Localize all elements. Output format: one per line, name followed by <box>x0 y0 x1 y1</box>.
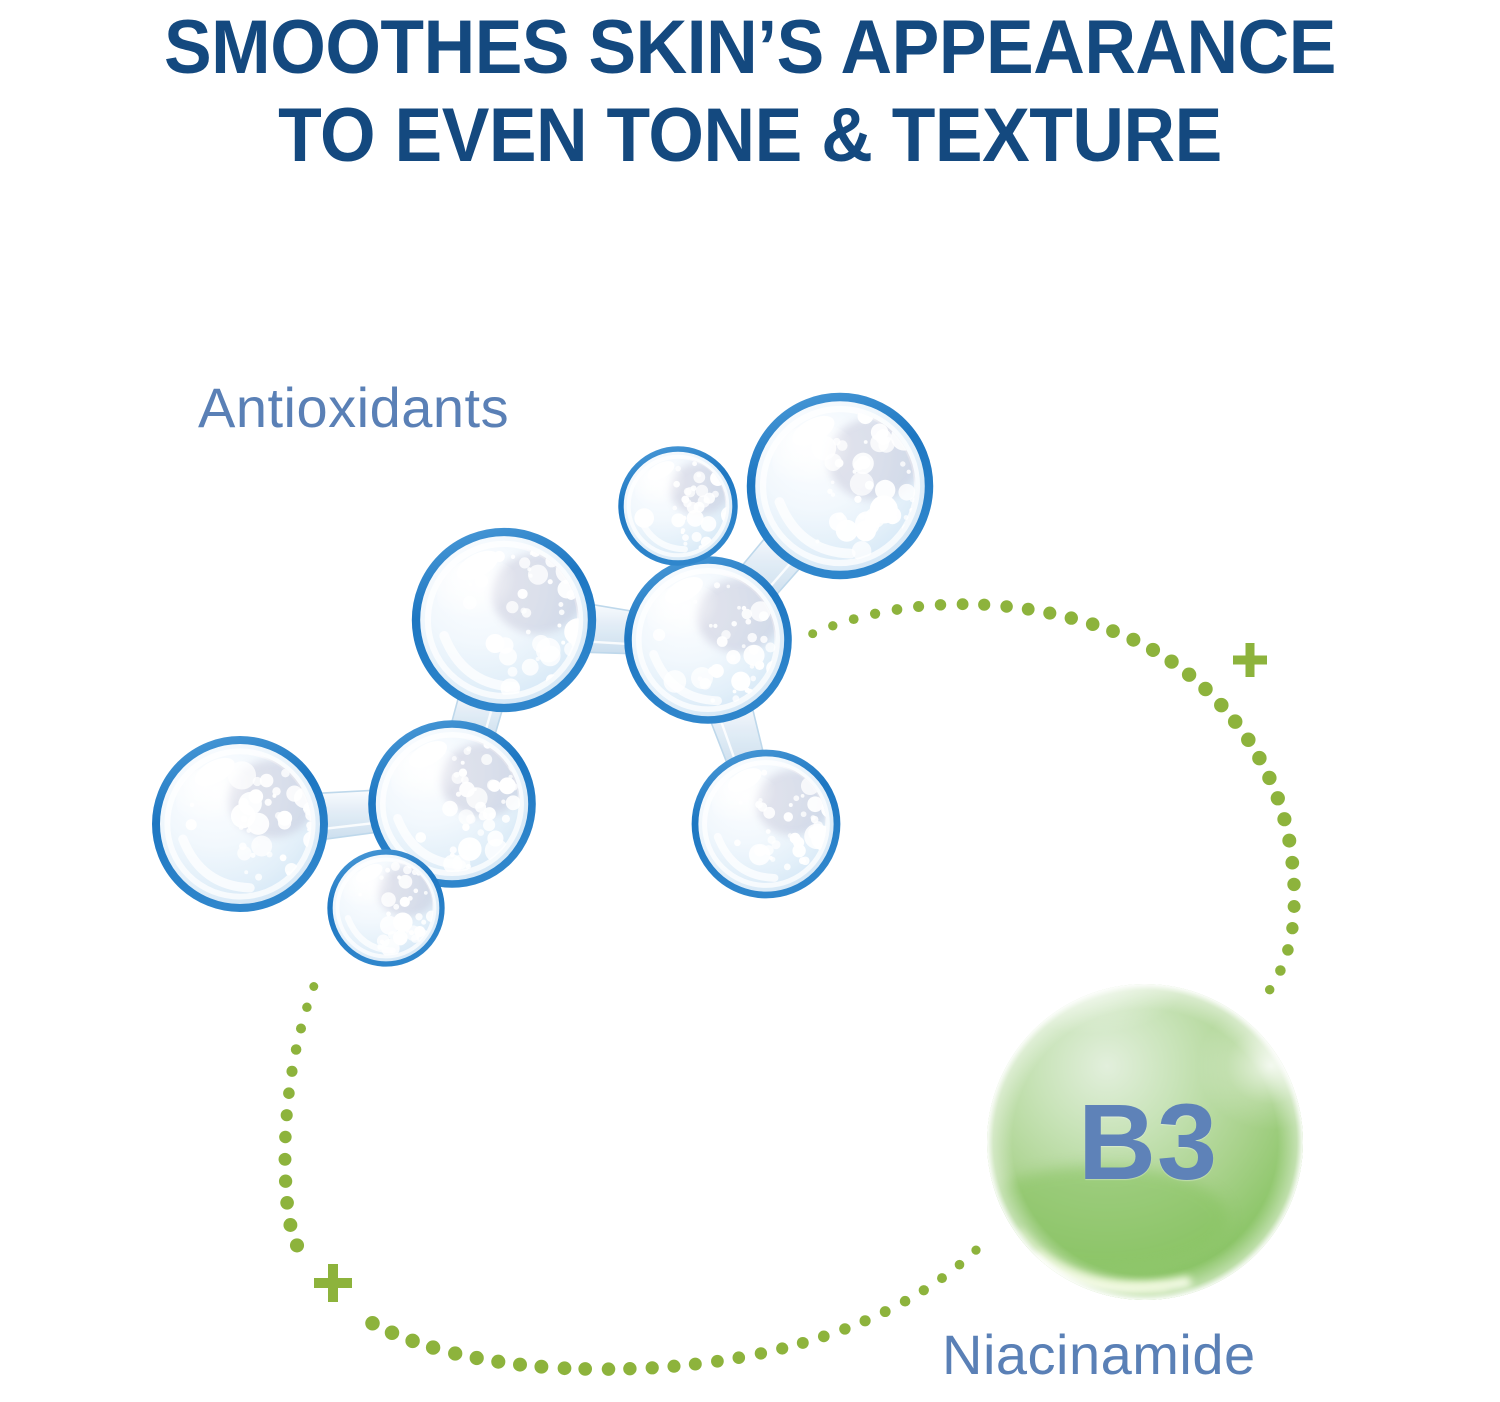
bubble-speckle <box>682 516 687 521</box>
bubble-speckle <box>464 748 471 755</box>
bubble-speckle <box>808 826 822 840</box>
bubble-speckle <box>807 796 823 812</box>
atom-top-right <box>751 397 929 575</box>
bubble-speckle <box>511 555 515 559</box>
bubble-speckle <box>385 868 390 873</box>
atom-left <box>156 740 324 908</box>
bubble-speckle <box>506 795 521 810</box>
bubble-speckle <box>450 846 457 853</box>
bubble-speckle <box>391 862 400 871</box>
bubble-speckle <box>286 785 302 801</box>
bubble-speckle <box>710 664 724 678</box>
bubble-speckle <box>466 814 476 824</box>
bubble-speckle <box>760 636 767 643</box>
bubble-speckle <box>307 828 311 832</box>
bubble-speckle <box>754 845 766 857</box>
bubble-speckle <box>528 565 548 585</box>
bubble-speckle <box>275 812 282 819</box>
bubble-speckle <box>750 676 756 682</box>
bubble-speckle <box>522 659 539 676</box>
bubble-speckle <box>683 542 687 546</box>
bubble-speckle <box>265 799 272 806</box>
bubble-speckle <box>397 875 401 879</box>
bubble-speckle <box>801 794 805 798</box>
bubble-speckle <box>749 645 759 655</box>
bubble-speckle <box>788 833 793 838</box>
bubble-speckle <box>829 513 848 532</box>
bubble-speckle <box>693 471 705 483</box>
bubble-speckle <box>386 912 391 917</box>
bubble-speckle <box>692 461 697 466</box>
bubble-speckle <box>488 780 500 792</box>
bubble-speckle <box>875 429 891 445</box>
atom-center <box>628 560 788 720</box>
bubble-speckle <box>415 832 426 843</box>
bubble-speckle <box>766 829 771 834</box>
bubble-speckle <box>280 854 287 861</box>
antioxidants-label: Antioxidants <box>198 378 509 438</box>
bubble-speckle <box>761 770 767 776</box>
bubble-speckle <box>854 496 861 503</box>
bubble-speckle <box>784 864 791 871</box>
atom-upper-mid <box>416 532 592 708</box>
bubble-speckle <box>681 530 685 534</box>
antioxidant-molecule-layer <box>0 0 1500 1402</box>
bubble-speckle <box>415 913 422 920</box>
bubble-speckle <box>510 783 517 790</box>
bubble-speckle <box>548 579 553 584</box>
bubble-speckle <box>483 819 495 831</box>
bubble-speckle <box>792 844 805 857</box>
bubble-speckle <box>477 829 484 836</box>
bubble-speckle <box>682 534 689 541</box>
bubble-speckle <box>237 846 251 860</box>
bubble-speckle <box>561 641 565 645</box>
bubble-speckle <box>671 513 685 527</box>
bubble-speckle <box>395 934 407 946</box>
molecule-atoms <box>156 397 929 964</box>
bubble-speckle <box>502 815 510 823</box>
bubble-speckle <box>501 800 505 804</box>
bubble-speckle <box>750 664 755 669</box>
bubble-speckle <box>413 888 418 893</box>
bubble-speckle <box>742 644 746 648</box>
bubble-speckle <box>700 678 712 690</box>
bubble-speckle <box>405 925 420 940</box>
bubble-speckle <box>714 582 720 588</box>
bubble-speckle <box>811 816 819 824</box>
bubble-speckle <box>859 513 865 519</box>
bubble-speckle <box>526 630 531 635</box>
bubble-speckle <box>703 498 709 504</box>
bubble-speckle <box>789 803 793 807</box>
bubble-speckle <box>509 775 513 779</box>
bubble-speckle <box>747 633 757 643</box>
bubble-speckle <box>559 609 565 615</box>
bubble-speckle <box>696 485 708 497</box>
bubble-speckle <box>421 920 426 925</box>
bubble-speckle <box>255 874 262 881</box>
bubble-speckle <box>793 795 799 801</box>
atom-right-lower <box>695 753 838 895</box>
bubble-speckle <box>272 794 276 798</box>
bubble-speckle <box>733 690 737 694</box>
bubble-speckle <box>734 839 741 846</box>
bubble-speckle <box>855 520 876 541</box>
bubble-speckle <box>557 624 561 628</box>
bubble-speckle <box>765 642 775 652</box>
bubble-speckle <box>907 470 911 474</box>
bubble-speckle <box>900 461 905 466</box>
bubble-speckle <box>701 516 717 532</box>
bubble-speckle <box>726 585 730 589</box>
bubble-speckle <box>530 551 534 555</box>
bubble-speckle <box>536 638 561 663</box>
bubble-speckle <box>772 840 781 849</box>
atom-small-bottom <box>330 852 442 964</box>
bubble-speckle <box>742 606 747 611</box>
niacinamide-label: Niacinamide <box>942 1325 1256 1385</box>
atom-small-top <box>621 449 737 563</box>
bubble-speckle <box>260 774 274 788</box>
bubble-speckle <box>801 811 807 817</box>
bubble-speckle <box>483 807 496 820</box>
bubble-speckle <box>799 857 806 864</box>
bubble-speckle <box>400 897 410 907</box>
bubble-speckle <box>731 621 737 627</box>
bubble-speckle <box>755 661 764 670</box>
bubble-speckle <box>519 557 530 568</box>
bubble-speckle <box>266 851 272 857</box>
bubble-speckle <box>770 857 775 862</box>
bubble-speckle <box>745 688 750 693</box>
bubble-speckle <box>692 532 702 542</box>
bubble-speckle <box>870 495 898 523</box>
bubble-speckle <box>424 891 428 895</box>
bubble-speckle <box>784 812 793 821</box>
bubble-speckle <box>745 619 751 625</box>
bubble-speckle <box>458 837 482 861</box>
bubble-speckle <box>486 634 505 653</box>
infographic-canvas: SMOOTHES SKIN’S APPEARANCE TO EVEN TONE … <box>0 0 1500 1402</box>
bubble-speckle <box>481 754 492 765</box>
bubble-speckle <box>864 440 868 444</box>
bubble-speckle <box>508 667 518 677</box>
bubble-speckle <box>737 606 741 610</box>
bubble-speckle <box>697 503 701 507</box>
bubble-speckle <box>244 870 248 874</box>
bubble-speckle <box>558 602 563 607</box>
bubble-speckle <box>737 676 742 681</box>
bubble-speckle <box>904 515 909 520</box>
bubble-speckle <box>729 655 736 662</box>
